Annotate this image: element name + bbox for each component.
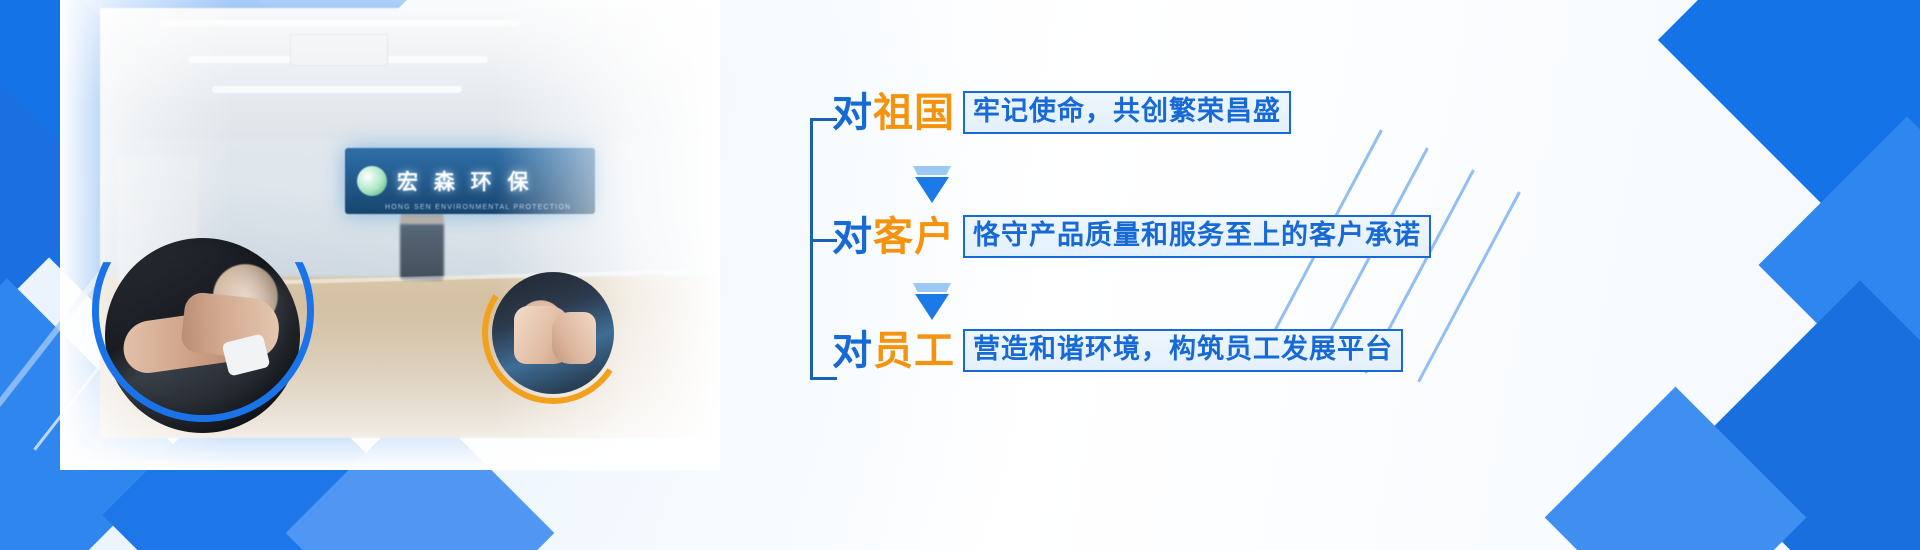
commitment-target: 客户 bbox=[873, 215, 955, 259]
triangle-down-icon-top bbox=[913, 166, 951, 175]
commitment-statement-employee: 营造和谐环境，构筑员工发展平台 bbox=[963, 329, 1403, 372]
commitment-row-employee: 对员工 营造和谐环境，构筑员工发展平台 bbox=[832, 329, 1403, 372]
commitment-prefix: 对 bbox=[832, 329, 873, 373]
decor-thin-line bbox=[1417, 191, 1521, 382]
commitment-prefix: 对 bbox=[832, 91, 873, 135]
commitment-heading-employee: 对员工 bbox=[832, 331, 955, 371]
commitment-target: 员工 bbox=[873, 329, 955, 373]
commitment-row-customer: 对客户 恪守产品质量和服务至上的客户承诺 bbox=[832, 215, 1431, 258]
bracket-tick-bottom bbox=[813, 377, 837, 380]
commitment-statement-customer: 恪守产品质量和服务至上的客户承诺 bbox=[963, 215, 1431, 258]
commitment-target: 祖国 bbox=[873, 91, 955, 135]
company-commitment-banner: 宏 森 环 保 HONG SEN ENVIRONMENTAL PROTECTIO… bbox=[0, 0, 1920, 550]
commitment-heading-country: 对祖国 bbox=[832, 93, 955, 133]
commitment-heading-customer: 对客户 bbox=[832, 217, 955, 257]
bracket-connector bbox=[810, 118, 832, 380]
decor-thin-line-group bbox=[1340, 130, 1660, 430]
triangle-down-icon-top bbox=[913, 283, 951, 292]
commitment-row-country: 对祖国 牢记使命，共创繁荣昌盛 bbox=[832, 91, 1291, 134]
commitment-statement-country: 牢记使命，共创繁荣昌盛 bbox=[963, 91, 1291, 134]
commitment-prefix: 对 bbox=[832, 215, 873, 259]
